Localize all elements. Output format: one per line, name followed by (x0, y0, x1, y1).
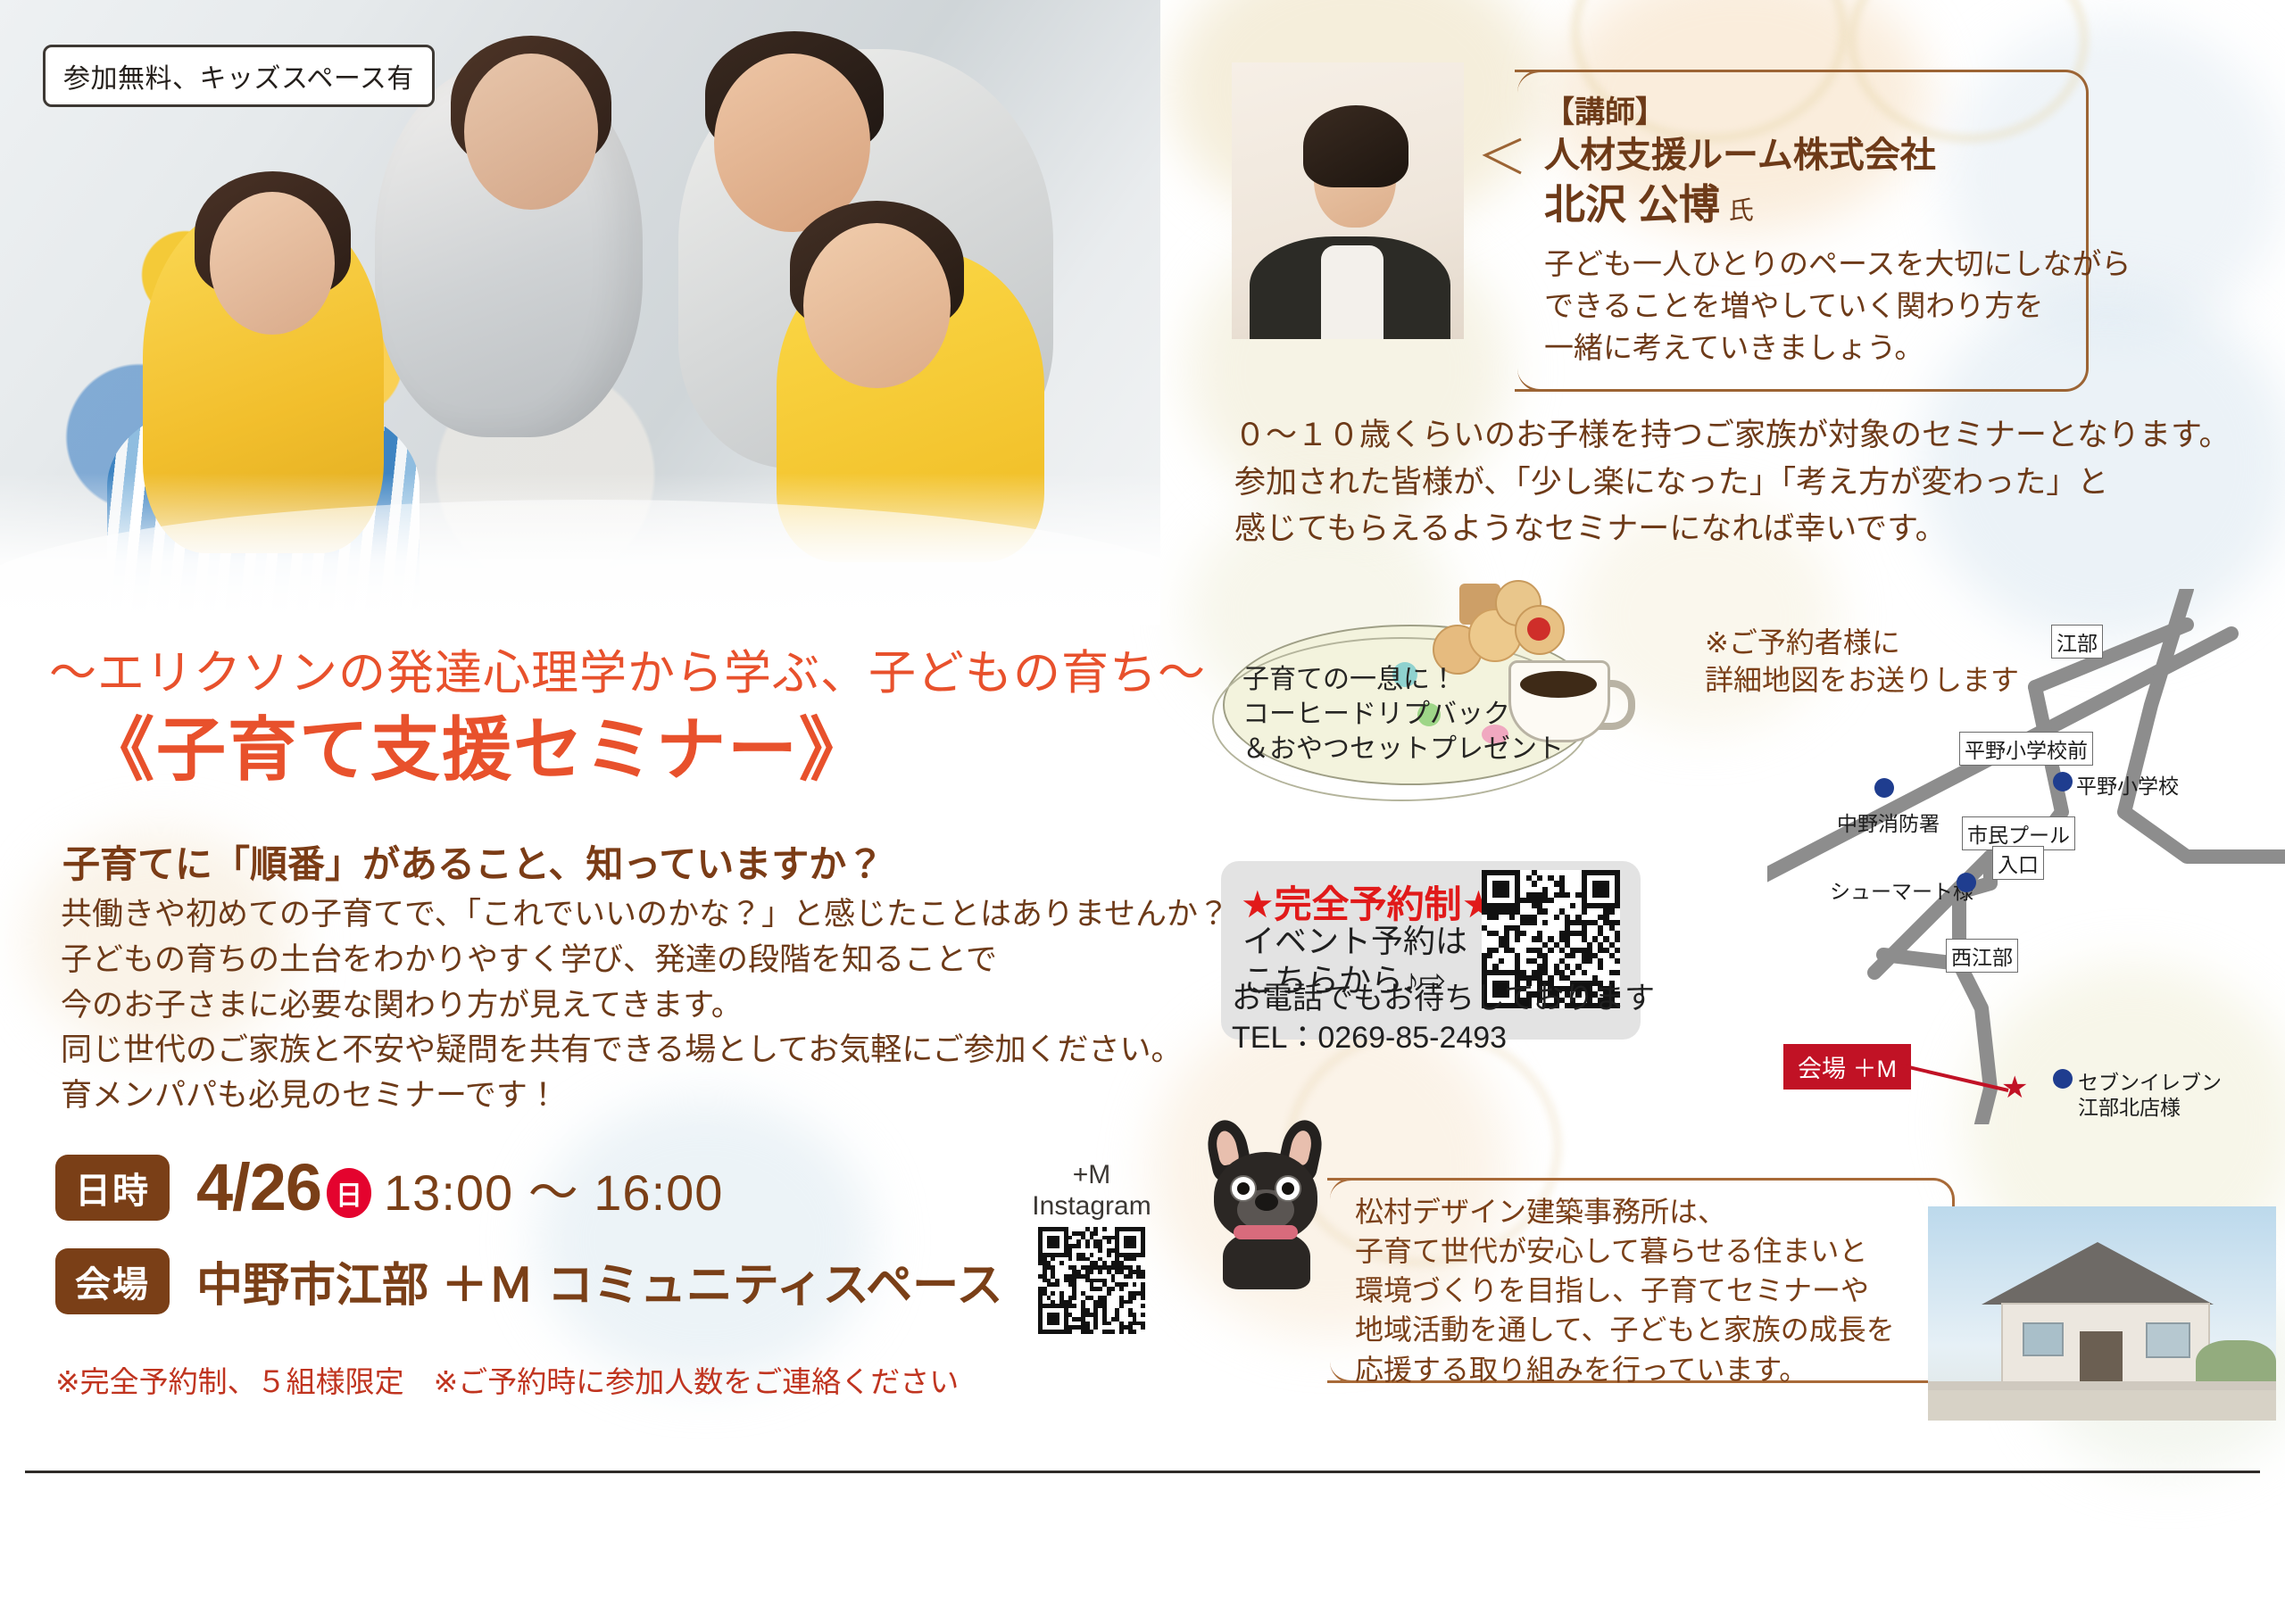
instagram-qr-left-label-2: Instagram (1007, 1191, 1176, 1222)
company-message-line: 地域活動を通して、子どもと家族の成長を (1355, 1310, 1895, 1349)
speaker-info-box: 【講師】 人材支援ルーム株式会社 北沢 公博氏 子ども一人ひとりのペースを大切に… (1517, 70, 2089, 392)
lead-question: 子育てに「順番」があること、知っていますか？ (62, 834, 884, 889)
house-photo-ground (1928, 1390, 2276, 1421)
free-admission-badge: 参加無料、キッズスペース有 (43, 45, 435, 107)
bg-blob (536, 1098, 875, 1383)
cookie-jam-icon (1515, 605, 1565, 655)
body-line: 同じ世代のご家族と不安や疑問を共有できる場としてお気軽にご参加ください。 (61, 1028, 1229, 1073)
speaker-company: 人材支援ルーム株式会社 (1544, 132, 2063, 178)
body-line: 子どもの育ちの土台をわかりやすく学び、発達の段階を知ることで (61, 938, 1229, 983)
map-label-nishi-ebu: 西江部 (1946, 939, 2018, 973)
footer: 松村デザイン建築事務所 MATSUMURA DESIGN STUDIO 地域密着… (0, 1471, 2285, 1624)
speaker-shirt (1321, 245, 1383, 339)
reservation-note: ※完全予約制、５組様限定 ※ご予約時に参加人数をご連絡ください (55, 1358, 959, 1401)
company-message-line: 松村デザイン建築事務所は、 (1355, 1192, 1895, 1231)
date-number: 4/26 (196, 1149, 321, 1225)
speaker-name: 北沢 公博 (1544, 181, 1720, 228)
map-dot-seven-eleven (2053, 1069, 2073, 1089)
dog-eye-right (1275, 1175, 1301, 1202)
map-venue-chip: 会場 ＋M (1783, 1044, 1911, 1090)
coffee-line: 子育ての一息に！ (1242, 662, 1564, 697)
seminar-subtitle: 〜エリクソンの発達心理学から学ぶ、子どもの育ち〜 (49, 635, 1206, 703)
speaker-name-row: 北沢 公博氏 (1544, 178, 2063, 232)
house-photo-roof (1982, 1242, 2214, 1305)
map-dot-fire-station (1874, 778, 1894, 798)
map-label-ebu: 江部 (2051, 625, 2103, 659)
company-message-text: 松村デザイン建築事務所は、 子育て世代が安心して暮らせる住まいと 環境づくりを目… (1355, 1192, 1895, 1389)
coffee-line: コーヒードリプバック (1242, 697, 1564, 732)
reservation-phone-number: TEL：0269-85-2493 (1232, 1019, 1655, 1058)
map-dot-shoe-mart (1957, 873, 1976, 892)
speaker-honorific: 氏 (1729, 196, 1754, 224)
reservation-line: イベント予約は (1242, 922, 1467, 961)
speaker-desc-line: 一緒に考えていきましょう。 (1544, 327, 2063, 369)
flyer-page: 参加無料、キッズスペース有 〜エリクソンの発達心理学から学ぶ、子どもの育ち〜 《… (0, 0, 2285, 1624)
hero-fade-overlay (0, 473, 1160, 625)
body-copy: 共働きや初めての子育てで、「これでいいのかな？」と感じたことはありませんか？ 子… (61, 892, 1229, 1119)
location-map: 江部 平野小学校前 平野小学校 市民プール 入口 中野消防署 シューマート様 西… (1767, 589, 2285, 1124)
qr-code-instagram-left[interactable] (1038, 1227, 1145, 1334)
map-dot-hirano-es (2053, 772, 2073, 791)
speaker-desc-line: 子ども一人ひとりのペースを大切にしながら (1544, 244, 2063, 286)
house-photo-window (2023, 1322, 2064, 1356)
map-label-hirano-es: 平野小学校 (2076, 769, 2179, 800)
venue-row: 会場 中野市江部 ＋Ｍ コミュニティスペース (55, 1247, 1003, 1314)
sunday-badge: 日 (327, 1168, 371, 1218)
map-label-shoe-mart: シューマート様 (1830, 874, 1973, 905)
speaker-pointer-icon (1469, 136, 1523, 177)
hero-figure-boy-head (803, 223, 951, 388)
speaker-label: 【講師】 (1544, 94, 2063, 132)
target-line: 感じてもらえるようなセミナーになれば幸いです。 (1234, 506, 2230, 553)
date-row: 日時 4/26 日 13:00 〜 16:00 (55, 1149, 723, 1225)
map-label-seven-eleven-branch: 江部北店様 (2078, 1090, 2181, 1121)
map-label-hirano-es-mae: 平野小学校前 (1959, 732, 2093, 766)
venue-value: 中野市江部 ＋Ｍ コミュニティスペース (196, 1247, 1003, 1314)
reservation-phone-block: お電話でもお待ちしております TEL：0269-85-2493 (1232, 980, 1655, 1057)
company-message-line: 子育て世代が安心して暮らせる住まいと (1355, 1231, 1895, 1271)
speaker-desc-line: できることを増やしていく関わり方を (1544, 286, 2063, 327)
map-label-pool-entrance: 入口 (1992, 846, 2044, 880)
dog-pupil (1282, 1182, 1294, 1195)
instagram-qr-left-label-1: +M (1007, 1160, 1176, 1191)
speaker-description: 子ども一人ひとりのペースを大切にしながら できることを増やしていく関わり方を 一… (1544, 244, 2063, 369)
target-line: ０〜１０歳くらいのお子様を持つご家族が対象のセミナーとなります。 (1234, 412, 2230, 460)
target-line: 参加された皆様が、「少し楽になった」「考え方が変わった」と (1234, 460, 2230, 507)
hero-figure-girl-head (210, 192, 335, 335)
dog-nose (1255, 1193, 1278, 1211)
body-line: 育メンパパも必見のセミナーです！ (61, 1073, 1229, 1119)
seminar-title: 《子育て支援セミナー》 (85, 694, 870, 794)
body-line: 今のお子さまに必要な関わり方が見えてきます。 (61, 983, 1229, 1029)
time-range: 13:00 〜 16:00 (384, 1153, 723, 1225)
house-photo (1928, 1206, 2276, 1421)
map-label-fire-station: 中野消防署 (1837, 807, 1940, 837)
body-line: 共働きや初めての子育てで、「これでいいのかな？」と感じたことはありませんか？ (61, 892, 1229, 938)
dog-collar (1234, 1225, 1298, 1239)
speaker-portrait (1232, 62, 1464, 339)
venue-tag: 会場 (55, 1248, 170, 1314)
coffee-gift-text: 子育ての一息に！ コーヒードリプバック ＆おやつセットプレゼント (1242, 662, 1564, 766)
map-venue-star-icon: ★ (2001, 1073, 2028, 1103)
speaker-hair (1303, 105, 1408, 187)
target-audience-paragraph: ０〜１０歳くらいのお子様を持つご家族が対象のセミナーとなります。 参加された皆様… (1234, 412, 2230, 553)
reservation-phone-note: お電話でもお待ちしております (1232, 980, 1655, 1019)
house-photo-window (2146, 1322, 2190, 1358)
reservation-title: ★完全予約制★ (1241, 874, 1495, 929)
date-value-group: 4/26 日 13:00 〜 16:00 (196, 1149, 723, 1225)
house-photo-door (2080, 1331, 2123, 1385)
hero-figure-mother-head (464, 54, 598, 210)
coffee-line: ＆おやつセットプレゼント (1242, 732, 1564, 766)
dog-pupil (1237, 1182, 1250, 1195)
date-tag: 日時 (55, 1155, 170, 1221)
dog-eye-left (1230, 1175, 1257, 1202)
company-message-line: 環境づくりを目指し、子育てセミナーや (1355, 1271, 1895, 1310)
dog-mascot-upper (1207, 1120, 1325, 1294)
instagram-qr-left[interactable]: +M Instagram (1007, 1160, 1176, 1334)
company-message-line: 応援する取り組みを行っています。 (1355, 1350, 1895, 1389)
